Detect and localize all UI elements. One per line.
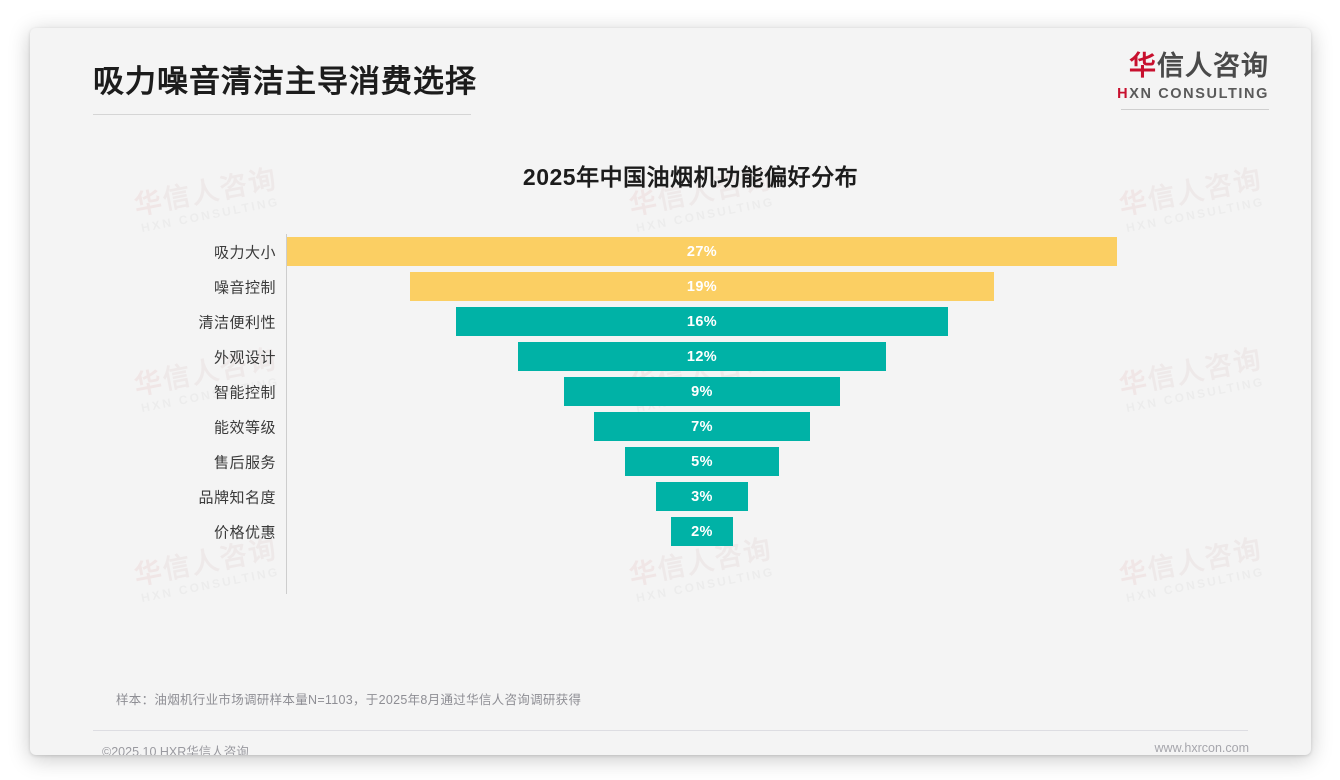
bar-track: 9%	[287, 374, 1311, 409]
logo-en-rest: XN CONSULTING	[1129, 86, 1269, 102]
bar-category-label: 吸力大小	[30, 241, 276, 262]
bar-category-label: 噪音控制	[30, 276, 276, 297]
bar-category-label: 能效等级	[30, 416, 276, 437]
bar-value-label: 2%	[691, 524, 713, 540]
bar-track: 19%	[287, 269, 1311, 304]
brand-logo: 华信人咨询 HXN CONSULTING	[1117, 52, 1269, 110]
chart-bar-row: 售后服务5%	[30, 444, 1311, 479]
bar-track: 12%	[287, 339, 1311, 374]
bar-track: 3%	[287, 479, 1311, 514]
bar-category-label: 清洁便利性	[30, 311, 276, 332]
chart-bar[interactable]: 3%	[656, 482, 748, 511]
bar-category-label: 售后服务	[30, 451, 276, 472]
bar-track: 16%	[287, 304, 1311, 339]
bar-value-label: 7%	[691, 419, 713, 435]
chart-bar-row: 吸力大小27%	[30, 234, 1311, 269]
bar-value-label: 9%	[691, 384, 713, 400]
bar-value-label: 19%	[687, 279, 717, 295]
chart-bar-row: 价格优惠2%	[30, 514, 1311, 549]
chart-bar-row: 清洁便利性16%	[30, 304, 1311, 339]
chart-area: 2025年中国油烟机功能偏好分布 吸力大小27%噪音控制19%清洁便利性16%外…	[30, 158, 1311, 668]
bar-value-label: 27%	[687, 244, 717, 260]
bar-category-label: 智能控制	[30, 381, 276, 402]
chart-title: 2025年中国油烟机功能偏好分布	[30, 158, 1311, 192]
chart-bar[interactable]: 5%	[625, 447, 779, 476]
sample-note: 样本：油烟机行业市场调研样本量N=1103，于2025年8月通过华信人咨询调研获…	[116, 689, 581, 708]
logo-underline	[1121, 109, 1269, 110]
slide-header: 吸力噪音清洁主导消费选择 华信人咨询 HXN CONSULTING	[30, 28, 1311, 128]
chart-bar[interactable]: 2%	[671, 517, 732, 546]
copyright-text: ©2025.10 HXR华信人咨询	[102, 741, 249, 755]
chart-bar-row: 智能控制9%	[30, 374, 1311, 409]
bar-category-label: 价格优惠	[30, 521, 276, 542]
bar-value-label: 5%	[691, 454, 713, 470]
title-underline	[93, 114, 471, 115]
bar-track: 2%	[287, 514, 1311, 549]
chart-bar[interactable]: 16%	[456, 307, 948, 336]
chart-bar[interactable]: 12%	[518, 342, 887, 371]
bar-value-label: 3%	[691, 489, 713, 505]
bar-track: 5%	[287, 444, 1311, 479]
chart-bar-row: 噪音控制19%	[30, 269, 1311, 304]
funnel-bar-chart: 吸力大小27%噪音控制19%清洁便利性16%外观设计12%智能控制9%能效等级7…	[30, 234, 1311, 594]
chart-bar[interactable]: 9%	[564, 377, 841, 406]
website-link[interactable]: www.hxrcon.com	[1155, 741, 1249, 755]
bar-category-label: 品牌知名度	[30, 486, 276, 507]
chart-bar[interactable]: 19%	[410, 272, 994, 301]
bar-track: 7%	[287, 409, 1311, 444]
logo-cn-red-char: 华	[1129, 51, 1157, 81]
chart-bar[interactable]: 27%	[287, 237, 1117, 266]
logo-chinese-text: 华信人咨询	[1117, 52, 1269, 82]
logo-english-text: HXN CONSULTING	[1117, 86, 1269, 102]
bar-value-label: 12%	[687, 349, 717, 365]
bar-value-label: 16%	[687, 314, 717, 330]
logo-cn-rest: 信人咨询	[1157, 51, 1269, 81]
chart-bar-row: 品牌知名度3%	[30, 479, 1311, 514]
logo-en-red-char: H	[1117, 86, 1129, 102]
bar-track: 27%	[287, 234, 1311, 269]
chart-bar[interactable]: 7%	[594, 412, 809, 441]
chart-bar-row: 能效等级7%	[30, 409, 1311, 444]
chart-bar-row: 外观设计12%	[30, 339, 1311, 374]
slide-card: 华信人咨询HXN CONSULTING华信人咨询HXN CONSULTING华信…	[30, 28, 1311, 755]
footer-divider	[93, 730, 1248, 731]
page-title: 吸力噪音清洁主导消费选择	[93, 56, 477, 101]
bar-category-label: 外观设计	[30, 346, 276, 367]
